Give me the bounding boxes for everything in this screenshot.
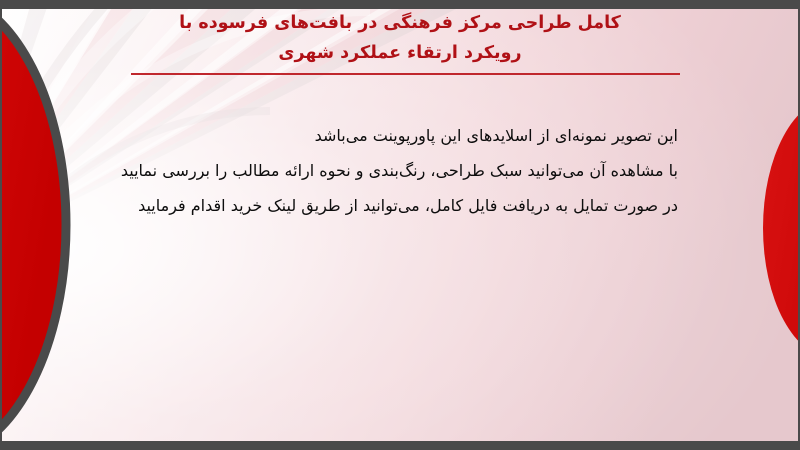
slide-body-text: این تصویر نمونه‌ای از اسلایدهای این پاور… bbox=[118, 118, 678, 223]
frame-band-left bbox=[0, 0, 2, 450]
title-line-2: رویکرد ارتقاء عملکرد شهری bbox=[100, 38, 700, 68]
slide-title: کامل طراحی مرکز فرهنگی در بافت‌های فرسود… bbox=[100, 8, 700, 68]
red-lens-left bbox=[0, 0, 66, 450]
body-line-3: در صورت تمایل به دریافت فایل کامل، می‌تو… bbox=[118, 188, 678, 223]
title-line-1: کامل طراحی مرکز فرهنگی در بافت‌های فرسود… bbox=[100, 8, 700, 38]
body-line-1: این تصویر نمونه‌ای از اسلایدهای این پاور… bbox=[118, 118, 678, 153]
title-underline-rule bbox=[131, 73, 680, 75]
red-lens-right bbox=[763, 98, 800, 358]
frame-band-bottom bbox=[0, 441, 800, 450]
presentation-slide: کامل طراحی مرکز فرهنگی در بافت‌های فرسود… bbox=[0, 0, 800, 450]
body-line-2: با مشاهده آن می‌توانید سبک طراحی، رنگ‌بن… bbox=[118, 153, 678, 188]
